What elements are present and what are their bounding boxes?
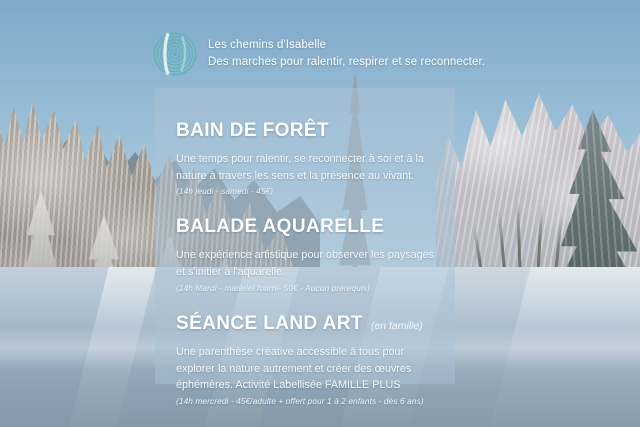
activity-title: BALADE AQUARELLE [176, 216, 384, 238]
brand-tagline: Des marches pour ralentir, respirer et s… [208, 54, 485, 71]
activity-title: SÉANCE LAND ART [176, 313, 363, 335]
poster-canvas: Les chemins d'Isabelle Des marches pour … [0, 0, 640, 427]
activity-heading: SÉANCE LAND ART (en famille) [176, 313, 442, 335]
activity-item: BAIN DE FORÊT Une temps pour ralentir, s… [176, 120, 442, 196]
activity-meta: (14h mercredi - 45€/adulte + offert pour… [176, 396, 442, 406]
activity-meta: (14h Mardi - matériel fourni- 50€ - Aucu… [176, 283, 442, 293]
activity-heading: BALADE AQUARELLE [176, 216, 442, 238]
fingerprint-rings-logo-icon [152, 31, 198, 77]
brand-text-block: Les chemins d'Isabelle Des marches pour … [208, 37, 485, 70]
activity-meta: (14h jeudi - samedi - 45€) [176, 186, 442, 196]
activity-description: Une expérience artistique pour observer … [176, 247, 442, 280]
activity-description: Une temps pour ralentir, se reconnecter … [176, 151, 442, 184]
activity-item: BALADE AQUARELLE Une expérience artistiq… [176, 216, 442, 292]
activity-heading: BAIN DE FORÊT [176, 120, 442, 142]
activities-list: BAIN DE FORÊT Une temps pour ralentir, s… [176, 120, 442, 406]
brand-name: Les chemins d'Isabelle [208, 37, 485, 54]
activity-note: (en famille) [371, 320, 423, 332]
brand-header: Les chemins d'Isabelle Des marches pour … [152, 31, 485, 77]
activity-item: SÉANCE LAND ART (en famille) Une parenth… [176, 313, 442, 406]
activity-title: BAIN DE FORÊT [176, 120, 329, 142]
activity-description: Une parenthèse créative accessible à tou… [176, 344, 442, 394]
